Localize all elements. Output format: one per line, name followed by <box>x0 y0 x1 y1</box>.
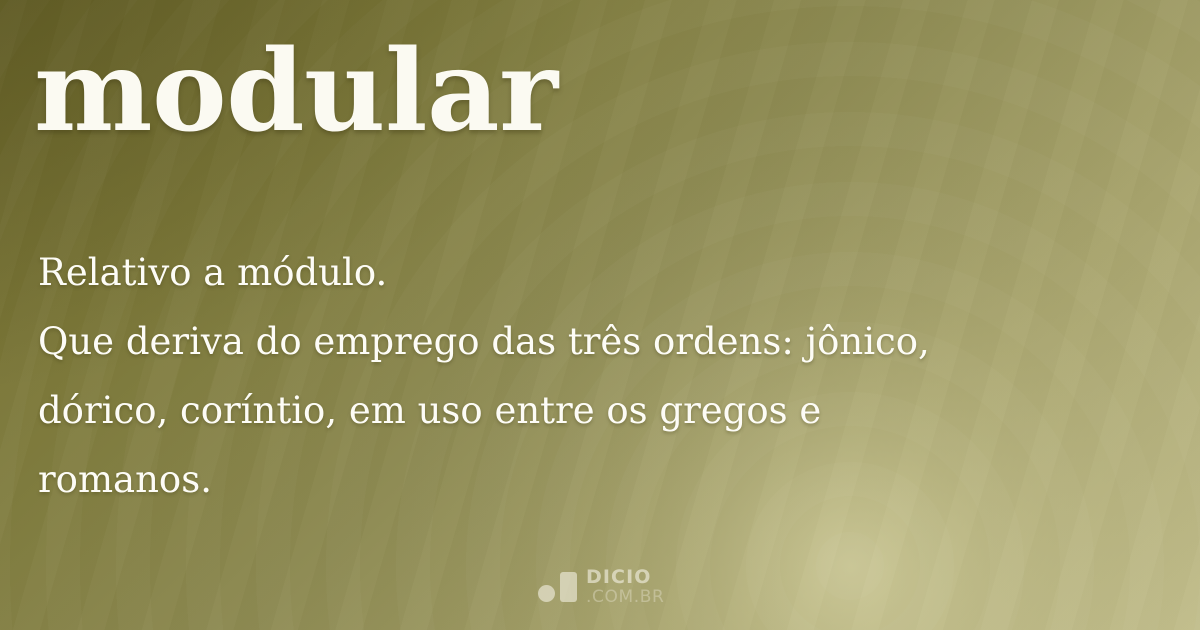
brand-domain: .COM.BR <box>586 589 664 606</box>
definition-line: Relativo a módulo. <box>38 238 1088 307</box>
bar-icon <box>560 572 577 602</box>
dicio-logo: DICIO .COM.BR <box>538 568 664 606</box>
dictionary-entry-card: modular Relativo a módulo. Que deriva do… <box>0 0 1200 630</box>
card-content: modular Relativo a módulo. Que deriva do… <box>0 0 1200 630</box>
definition-line: Que deriva do emprego das três ordens: j… <box>38 307 1088 376</box>
dicio-logo-text: DICIO .COM.BR <box>586 568 664 606</box>
circle-icon <box>538 585 555 602</box>
entry-definition: Relativo a módulo. Que deriva do emprego… <box>38 238 1088 514</box>
brand-name: DICIO <box>586 568 664 587</box>
dicio-logo-mark <box>538 572 577 602</box>
definition-line: romanos. <box>38 445 1088 514</box>
definition-line: dórico, coríntio, em uso entre os gregos… <box>38 376 1088 445</box>
entry-word-title: modular <box>34 36 558 148</box>
